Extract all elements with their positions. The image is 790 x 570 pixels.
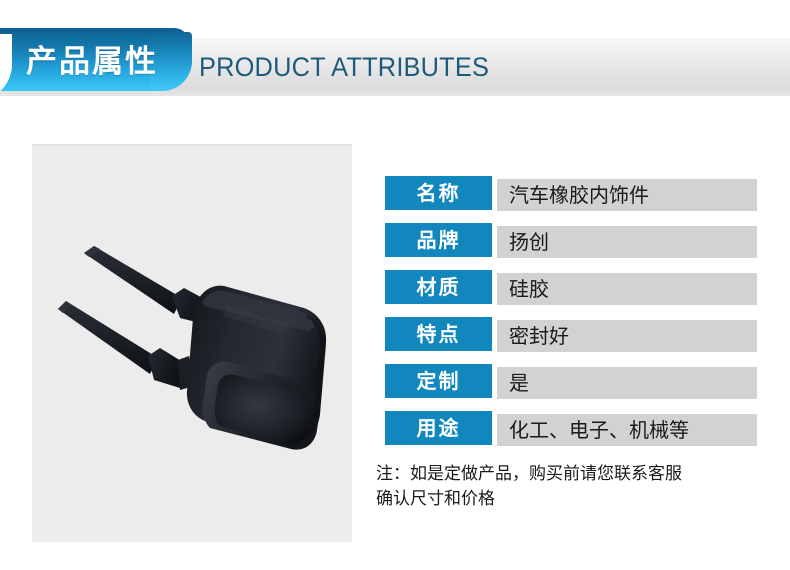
attribute-key: 品牌 <box>385 223 492 257</box>
attributes-note: 注：如是定做产品，购买前请您联系客服 确认尺寸和价格 <box>376 462 776 512</box>
page-header-banner: 产品属性 PRODUCT ATTRIBUTES <box>0 0 790 110</box>
attributes-note-line-2: 确认尺寸和价格 <box>376 487 776 512</box>
table-row: 用途 化工、电子、机械等 <box>385 411 757 458</box>
attribute-value: 是 <box>497 367 757 399</box>
attributes-note-line-1: 注：如是定做产品，购买前请您联系客服 <box>376 462 776 487</box>
table-row: 品牌 扬创 <box>385 223 757 270</box>
product-image-panel[interactable] <box>32 144 352 542</box>
banner-title-en: PRODUCT ATTRIBUTES <box>199 50 489 84</box>
table-row: 名称 汽车橡胶内饰件 <box>385 176 757 223</box>
product-attributes-table: 名称 汽车橡胶内饰件 品牌 扬创 材质 硅胶 特点 密封好 定制 是 用途 化工… <box>385 176 757 458</box>
table-row: 特点 密封好 <box>385 317 757 364</box>
attribute-value: 硅胶 <box>497 273 757 305</box>
product-photo <box>32 146 352 542</box>
attribute-value: 汽车橡胶内饰件 <box>497 179 757 211</box>
attribute-key: 材质 <box>385 270 492 304</box>
banner-title-cn: 产品属性 <box>26 45 158 79</box>
attribute-key: 名称 <box>385 176 492 210</box>
attribute-value: 密封好 <box>497 320 757 352</box>
attribute-key: 定制 <box>385 364 492 398</box>
table-row: 材质 硅胶 <box>385 270 757 317</box>
table-row: 定制 是 <box>385 364 757 411</box>
attribute-value: 化工、电子、机械等 <box>497 414 757 446</box>
attribute-key: 特点 <box>385 317 492 351</box>
attribute-value: 扬创 <box>497 226 757 258</box>
attribute-key: 用途 <box>385 411 492 445</box>
